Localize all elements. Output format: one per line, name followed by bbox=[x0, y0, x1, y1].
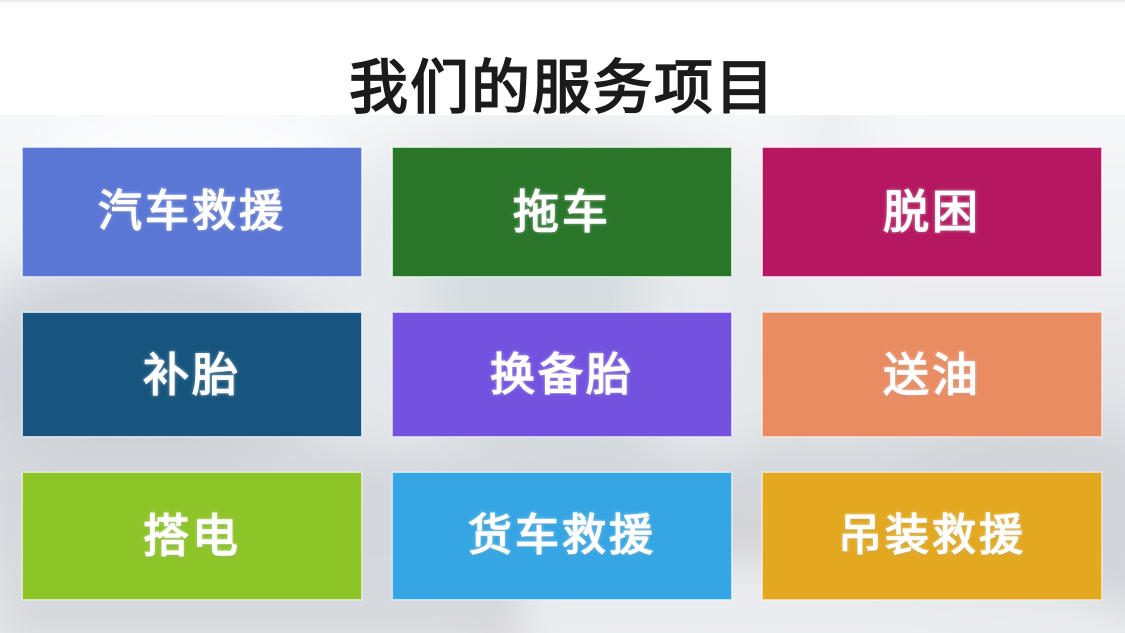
service-tile-label: 送油 bbox=[883, 352, 981, 398]
service-tile-extrication[interactable]: 脱困 bbox=[762, 147, 1102, 277]
service-tile-label: 拖车 bbox=[513, 189, 611, 235]
service-tile-label: 汽车救援 bbox=[98, 190, 286, 234]
service-tile-fuel-delivery[interactable]: 送油 bbox=[762, 312, 1102, 437]
service-tile-label: 换备胎 bbox=[490, 352, 634, 397]
service-tile-label: 搭电 bbox=[143, 513, 241, 559]
service-tile-towing[interactable]: 拖车 bbox=[392, 147, 732, 277]
service-tile-label: 补胎 bbox=[143, 352, 241, 398]
page-title: 我们的服务项目 bbox=[0, 58, 1125, 117]
service-tile-label: 吊装救援 bbox=[838, 514, 1026, 558]
service-poster: 我们的服务项目 汽车救援 拖车 脱困 补胎 换备胎 送油 搭电 货车救援 吊装救… bbox=[0, 0, 1125, 633]
service-tile-crane-lifting-rescue[interactable]: 吊装救援 bbox=[762, 472, 1102, 600]
service-tile-tire-repair[interactable]: 补胎 bbox=[22, 312, 362, 437]
service-tile-jump-start[interactable]: 搭电 bbox=[22, 472, 362, 600]
top-divider-rule bbox=[0, 0, 1125, 4]
service-tile-label: 脱困 bbox=[883, 189, 981, 235]
service-tile-grid: 汽车救援 拖车 脱困 补胎 换备胎 送油 搭电 货车救援 吊装救援 bbox=[22, 147, 1103, 600]
service-tile-car-rescue[interactable]: 汽车救援 bbox=[22, 147, 362, 277]
service-tile-label: 货车救援 bbox=[468, 514, 656, 558]
service-tile-truck-rescue[interactable]: 货车救援 bbox=[392, 472, 732, 600]
service-tile-spare-tire-change[interactable]: 换备胎 bbox=[392, 312, 732, 437]
